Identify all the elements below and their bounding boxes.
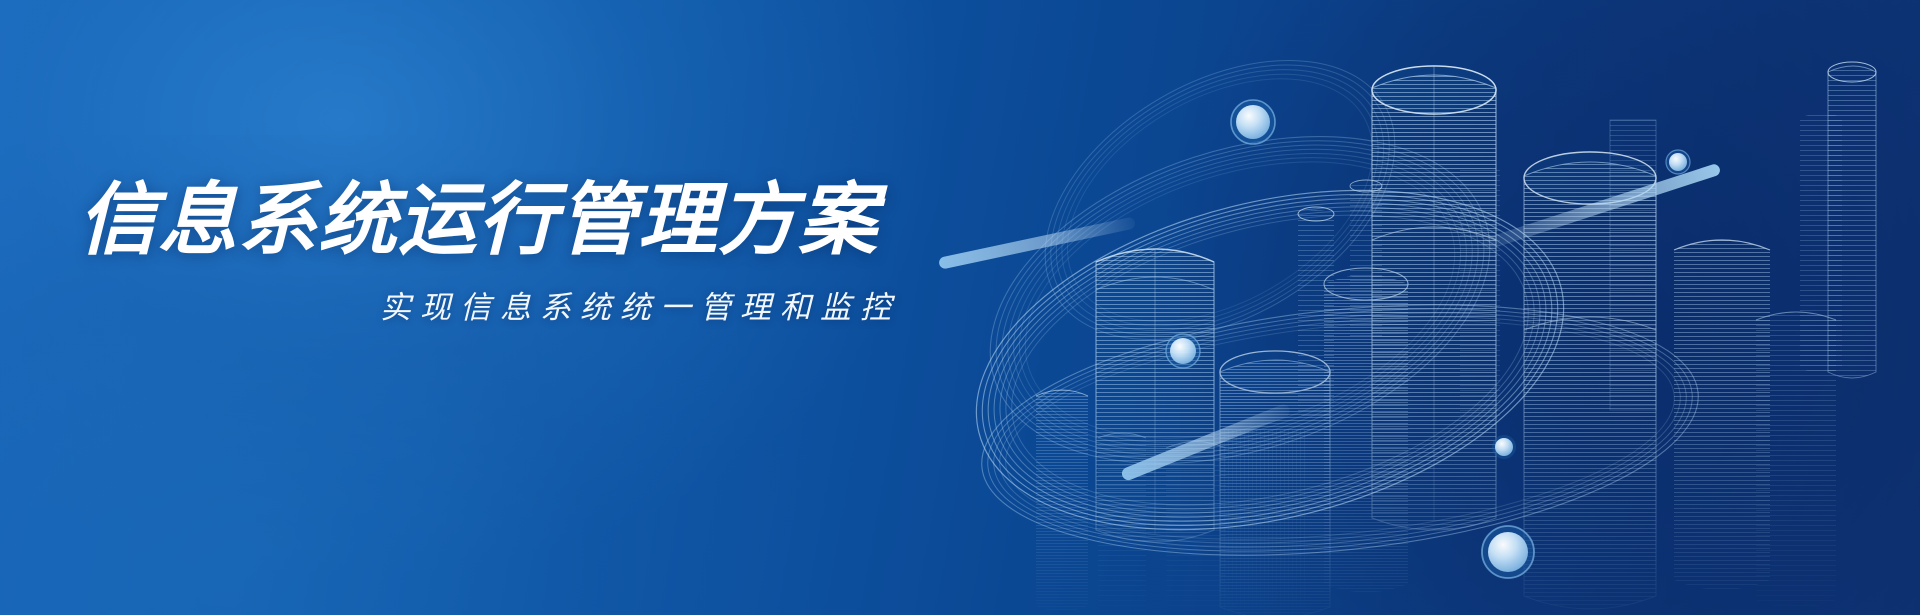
banner-subtitle: 实现信息系统统一管理和监控 <box>78 282 908 327</box>
banner-title: 信息系统运行管理方案 <box>78 178 908 262</box>
banner-text-block: 信息系统运行管理方案 实现信息系统统一管理和监控 <box>78 178 908 327</box>
hero-banner: 信息系统运行管理方案 实现信息系统统一管理和监控 <box>0 0 1920 615</box>
